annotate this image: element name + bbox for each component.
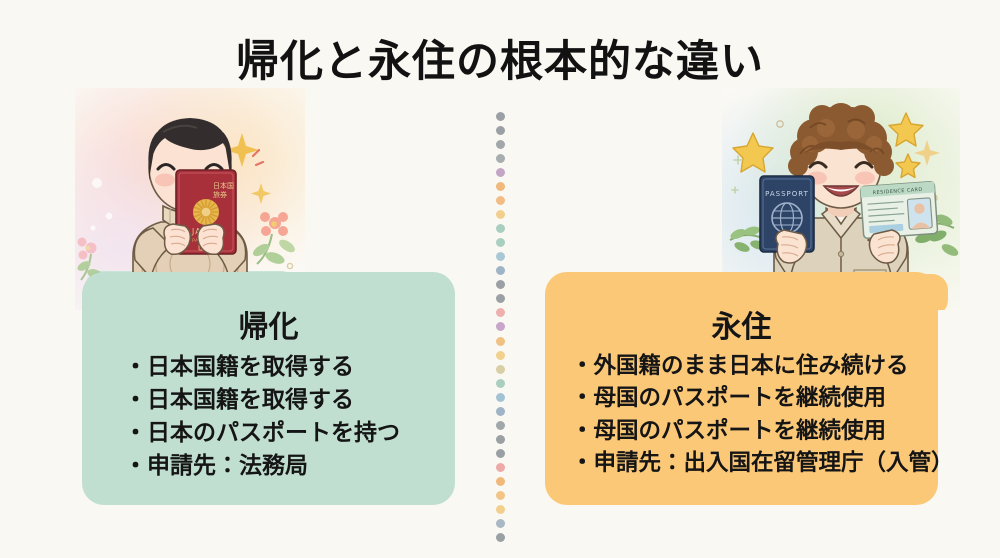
list-item: ・申請先：法務局 — [124, 449, 455, 482]
divider-dot-10 — [496, 252, 505, 261]
permanent-residency-card: 永住 ・外国籍のまま日本に住み続ける ・母国のパスポートを継続使用 ・母国のパス… — [545, 272, 938, 505]
divider-dot-7 — [496, 210, 505, 219]
divider-dot-13 — [496, 294, 505, 303]
bullet-mark: ・ — [124, 350, 147, 383]
divider-dot-9 — [496, 238, 505, 247]
list-item-text: 母国のパスポートを継続使用 — [594, 418, 887, 443]
divider-dot-29 — [496, 519, 505, 528]
divider-dot-16 — [496, 337, 505, 346]
list-item-text: 申請先：法務局 — [147, 452, 308, 478]
divider-dot-4 — [496, 168, 505, 177]
card-title-eiju: 永住 — [545, 310, 938, 346]
list-item: ・日本国籍を取得する — [124, 350, 455, 383]
list-item-text: 日本国籍を取得する — [147, 386, 354, 412]
list-item: ・外国籍のまま日本に住み続ける — [571, 350, 938, 382]
divider-dot-20 — [496, 393, 505, 402]
divider-dot-25 — [496, 463, 505, 472]
divider-dot-14 — [496, 308, 505, 317]
list-item: ・日本国籍を取得する — [124, 383, 455, 416]
divider-dot-24 — [496, 449, 505, 458]
divider-dot-6 — [496, 196, 505, 205]
svg-text:PASSPORT: PASSPORT — [765, 190, 809, 198]
bullet-mark: ・ — [571, 350, 594, 382]
divider-dot-21 — [496, 407, 505, 416]
bullet-mark: ・ — [124, 449, 147, 482]
divider-dot-5 — [496, 182, 505, 191]
list-item: ・母国のパスポートを継続使用 — [571, 415, 938, 447]
list-item-text: 申請先：出入国在留管理庁（入管） — [594, 450, 954, 475]
card-title-kika: 帰化 — [82, 310, 455, 346]
list-item: ・日本のパスポートを持つ — [124, 416, 455, 449]
divider-dot-3 — [496, 154, 505, 163]
divider-dot-11 — [496, 266, 505, 275]
divider-dot-26 — [496, 477, 505, 486]
bullet-mark: ・ — [571, 382, 594, 414]
divider-dot-12 — [496, 280, 505, 289]
divider-dot-2 — [496, 140, 505, 149]
divider-dot-18 — [496, 365, 505, 374]
divider-dot-17 — [496, 351, 505, 360]
list-item-text: 日本のパスポートを持つ — [147, 419, 400, 445]
divider-dot-1 — [496, 126, 505, 135]
eiju-bullet-list: ・外国籍のまま日本に住み続ける ・母国のパスポートを継続使用 ・母国のパスポート… — [545, 350, 938, 480]
svg-text:旅券: 旅券 — [213, 190, 227, 199]
divider-dot-30 — [496, 533, 505, 542]
divider-dot-15 — [496, 322, 505, 331]
divider-dot-8 — [496, 224, 505, 233]
bullet-mark: ・ — [124, 416, 147, 449]
divider-dot-19 — [496, 379, 505, 388]
page-title: 帰化と永住の根本的な違い — [0, 38, 1000, 87]
divider-dot-28 — [496, 505, 505, 514]
list-item: ・母国のパスポートを継続使用 — [571, 382, 938, 414]
divider-dot-0 — [496, 112, 505, 121]
naturalization-card: 帰化 ・日本国籍を取得する ・日本国籍を取得する ・日本のパスポートを持つ ・申… — [82, 272, 455, 505]
divider-dot-23 — [496, 435, 505, 444]
list-item-text: 日本国籍を取得する — [147, 353, 354, 379]
divider-dot-27 — [496, 491, 505, 500]
residence-card-icon: RESIDENCE CARD — [860, 181, 937, 238]
list-item-text: 外国籍のまま日本に住み続ける — [594, 353, 909, 378]
bullet-mark: ・ — [571, 447, 594, 479]
list-item-text: 母国のパスポートを継続使用 — [594, 385, 887, 410]
divider-dot-22 — [496, 421, 505, 430]
slide-root: 帰化と永住の根本的な違い — [0, 0, 1000, 558]
bullet-mark: ・ — [124, 383, 147, 416]
dotted-divider — [494, 112, 506, 542]
bullet-mark: ・ — [571, 415, 594, 447]
list-item: ・申請先：出入国在留管理庁（入管） — [571, 447, 938, 479]
svg-text:日本国: 日本国 — [213, 181, 234, 190]
kika-bullet-list: ・日本国籍を取得する ・日本国籍を取得する ・日本のパスポートを持つ ・申請先：… — [82, 350, 455, 482]
